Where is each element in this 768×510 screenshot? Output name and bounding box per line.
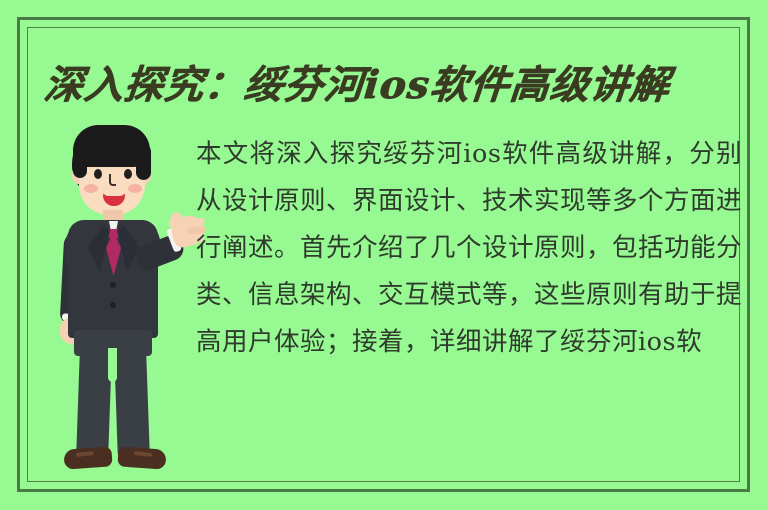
hair-side-right-shape [136, 144, 151, 180]
shoe-left-shape [63, 446, 112, 469]
eye-right-shape [124, 169, 132, 179]
suit-button-bottom [110, 302, 116, 308]
upper-lip-shape [103, 191, 125, 196]
cheek-right-shape [128, 184, 142, 193]
article-body-column: 本文将深入探究绥芬河ios软件高级讲解，分别从设计原则、界面设计、技术实现等多个… [196, 131, 742, 409]
hair-side-left-shape [73, 144, 87, 178]
leg-gap-shape [108, 348, 117, 382]
article-body-text: 本文将深入探究绥芬河ios软件高级讲解，分别从设计原则、界面设计、技术实现等多个… [196, 131, 742, 366]
nose-shape [109, 174, 116, 186]
leg-left-shape [76, 349, 112, 458]
eye-left-shape [94, 169, 102, 179]
suit-button-top [110, 282, 116, 288]
leg-right-shape [114, 349, 150, 458]
page-title: 深入探究：绥芬河ios软件高级讲解 [41, 58, 736, 116]
shoe-right-shape [117, 446, 166, 469]
cheek-left-shape [84, 184, 98, 193]
businessman-illustration [46, 122, 206, 412]
poster-canvas: 深入探究：绥芬河ios软件高级讲解 [0, 0, 768, 510]
